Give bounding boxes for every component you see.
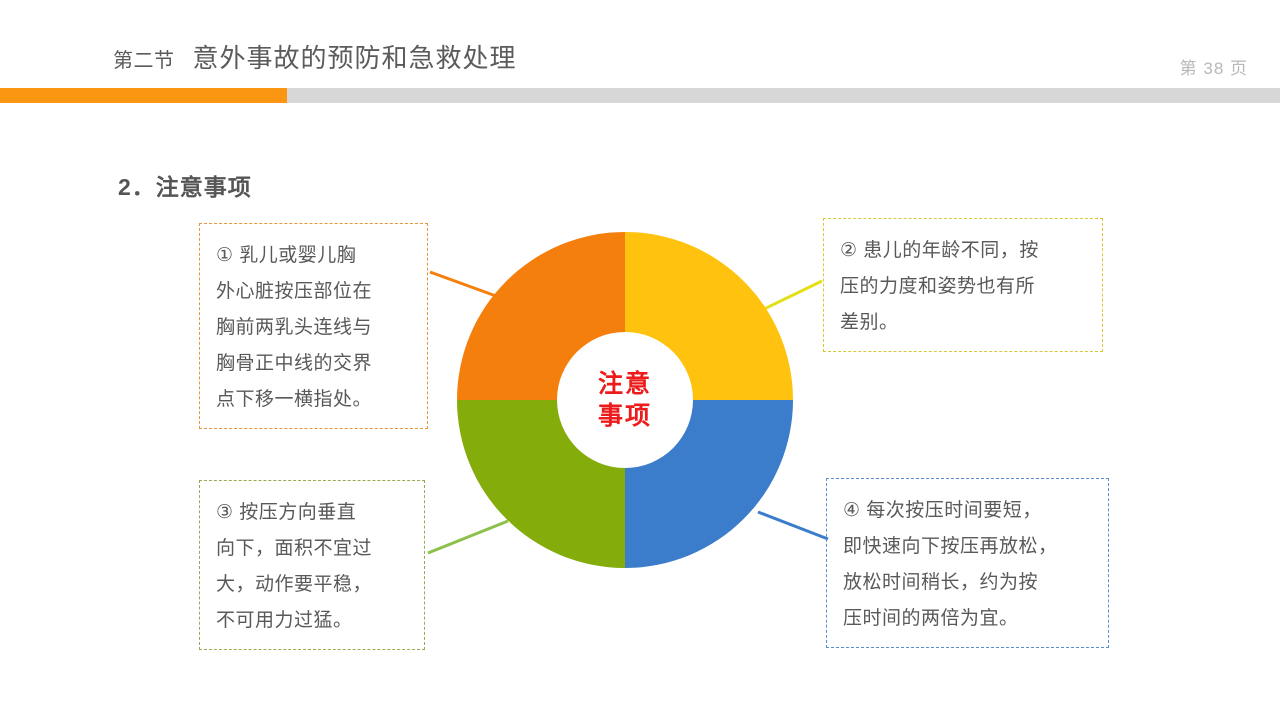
header-divider-bar-orange xyxy=(0,88,287,103)
donut-segment-orange[interactable] xyxy=(457,232,625,400)
callout-2-line-3: 差别。 xyxy=(840,305,1086,341)
callout-box-1[interactable]: ① 乳儿或婴儿胸 外心脏按压部位在 胸前两乳头连线与 胸骨正中线的交界 点下移一… xyxy=(199,223,428,429)
callout-3-line-4: 不可用力过猛。 xyxy=(216,603,408,639)
callout-2-line-1: ② 患儿的年龄不同，按 xyxy=(840,233,1086,269)
donut-chart: 注意 事项 xyxy=(450,225,800,575)
section-number-label: 第二节 xyxy=(113,44,175,73)
callout-3-line-2: 向下，面积不宜过 xyxy=(216,531,408,567)
callout-box-3[interactable]: ③ 按压方向垂直 向下，面积不宜过 大，动作要平稳， 不可用力过猛。 xyxy=(199,480,425,650)
slide-canvas: 第二节 意外事故的预防和急救处理 第 38 页 2．注意事项 注意 事项 ① xyxy=(0,0,1280,720)
donut-segment-yellow[interactable] xyxy=(625,232,793,400)
callout-1-line-5: 点下移一横指处。 xyxy=(216,382,411,418)
callout-box-4[interactable]: ④ 每次按压时间要短， 即快速向下按压再放松， 放松时间稍长，约为按 压时间的两… xyxy=(826,478,1109,648)
callout-4-line-1: ④ 每次按压时间要短， xyxy=(843,493,1092,529)
section-title-label: 意外事故的预防和急救处理 xyxy=(193,38,517,75)
callout-3-line-1: ③ 按压方向垂直 xyxy=(216,495,408,531)
page-title: 2．注意事项 xyxy=(118,168,252,202)
callout-2-line-2: 压的力度和姿势也有所 xyxy=(840,269,1086,305)
callout-1-line-4: 胸骨正中线的交界 xyxy=(216,346,411,382)
callout-1-line-2: 外心脏按压部位在 xyxy=(216,274,411,310)
callout-3-line-3: 大，动作要平稳， xyxy=(216,567,408,603)
callout-4-line-2: 即快速向下按压再放松， xyxy=(843,529,1092,565)
donut-chart-svg xyxy=(450,225,800,575)
donut-segment-green[interactable] xyxy=(457,400,625,568)
callout-1-line-3: 胸前两乳头连线与 xyxy=(216,310,411,346)
callout-4-line-4: 压时间的两倍为宜。 xyxy=(843,601,1092,637)
callout-4-line-3: 放松时间稍长，约为按 xyxy=(843,565,1092,601)
donut-segment-blue[interactable] xyxy=(625,400,793,568)
callout-box-2[interactable]: ② 患儿的年龄不同，按 压的力度和姿势也有所 差别。 xyxy=(823,218,1103,352)
page-number-label: 第 38 页 xyxy=(1180,54,1248,79)
slide-header-title: 第二节 意外事故的预防和急救处理 xyxy=(113,38,517,75)
callout-1-line-1: ① 乳儿或婴儿胸 xyxy=(216,238,411,274)
